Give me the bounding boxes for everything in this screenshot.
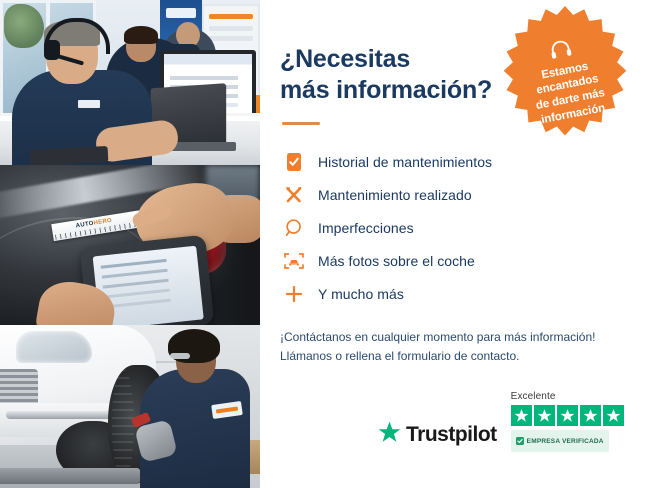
document-check-icon bbox=[280, 152, 308, 172]
call-center-agent-photo bbox=[0, 0, 260, 165]
status-badge-verified: EMPRESA VERIFICADA bbox=[511, 430, 609, 452]
photo-column: AUTOHERO bbox=[0, 0, 260, 488]
feature-item-much-more: Y mucho más bbox=[280, 277, 620, 310]
headline-line-1: ¿Necesitas bbox=[280, 44, 510, 75]
trustpilot-logo[interactable]: Trustpilot bbox=[378, 421, 497, 452]
status-badge: Estamos encantados de darte más informac… bbox=[497, 4, 633, 140]
desk-keyboard bbox=[30, 146, 109, 165]
trustpilot-rating: Excelente bbox=[511, 391, 624, 452]
content-panel: ¿Necesitas más información? Historial de… bbox=[260, 0, 650, 488]
rating-label: Excelente bbox=[511, 391, 556, 402]
verified-label: EMPRESA VERIFICADA bbox=[527, 438, 604, 445]
check-badge-icon bbox=[516, 432, 524, 450]
trustpilot-star-icon bbox=[378, 421, 401, 448]
feature-item-maintenance-history: Historial de mantenimientos bbox=[280, 145, 620, 178]
star-icon bbox=[534, 405, 555, 426]
mechanic-tire-photo bbox=[0, 325, 260, 488]
contact-line-2: Llámanos o rellena el formulario de cont… bbox=[280, 347, 620, 366]
feature-item-maintenance-done: Mantenimiento realizado bbox=[280, 178, 620, 211]
car-chrome-trim bbox=[6, 411, 122, 419]
star-icon bbox=[511, 405, 532, 426]
star-icon bbox=[557, 405, 578, 426]
vehicle-lift-arm bbox=[0, 468, 140, 484]
contact-text: ¡Contáctanos en cualquier momento para m… bbox=[280, 328, 620, 367]
contact-line-1: ¡Contáctanos en cualquier momento para m… bbox=[280, 328, 620, 347]
autohero-more-info-banner: AUTOHERO bbox=[0, 0, 650, 488]
star-icon bbox=[580, 405, 601, 426]
inspection-ruler-tablet-photo: AUTOHERO bbox=[0, 165, 260, 325]
trustpilot-wordmark: Trustpilot bbox=[406, 423, 497, 447]
magnifier-icon bbox=[280, 218, 308, 238]
badge-content: Estamos encantados de darte más informac… bbox=[485, 0, 644, 152]
star-rating bbox=[511, 405, 624, 426]
wrench-screwdriver-icon bbox=[280, 184, 308, 206]
trustpilot-block[interactable]: Trustpilot Excelente bbox=[378, 391, 624, 452]
window-greenery bbox=[4, 4, 44, 48]
feature-label: Y mucho más bbox=[318, 286, 404, 302]
title-divider bbox=[282, 122, 320, 125]
colleague-hair bbox=[124, 26, 158, 44]
plus-icon bbox=[280, 284, 308, 304]
feature-label: Historial de mantenimientos bbox=[318, 154, 492, 170]
tire-tread bbox=[112, 369, 134, 479]
feature-list: Historial de mantenimientos Mantenimient… bbox=[280, 145, 620, 310]
mechanic-safety-glasses bbox=[170, 353, 190, 359]
car-headlight bbox=[16, 331, 92, 363]
agent-name-badge bbox=[78, 100, 100, 108]
feature-item-imperfections: Imperfecciones bbox=[280, 211, 620, 244]
feature-label: Imperfecciones bbox=[318, 220, 414, 236]
car-scan-icon bbox=[280, 251, 308, 271]
badge-text: Estamos encantados de darte más informac… bbox=[512, 54, 625, 132]
feature-label: Más fotos sobre el coche bbox=[318, 253, 475, 269]
star-icon bbox=[603, 405, 624, 426]
feature-label: Mantenimiento realizado bbox=[318, 187, 472, 203]
page-title: ¿Necesitas más información? bbox=[280, 44, 510, 106]
feature-item-more-photos: Más fotos sobre el coche bbox=[280, 244, 620, 277]
headset-icon bbox=[548, 38, 574, 65]
headline-line-2: más información? bbox=[280, 75, 510, 106]
